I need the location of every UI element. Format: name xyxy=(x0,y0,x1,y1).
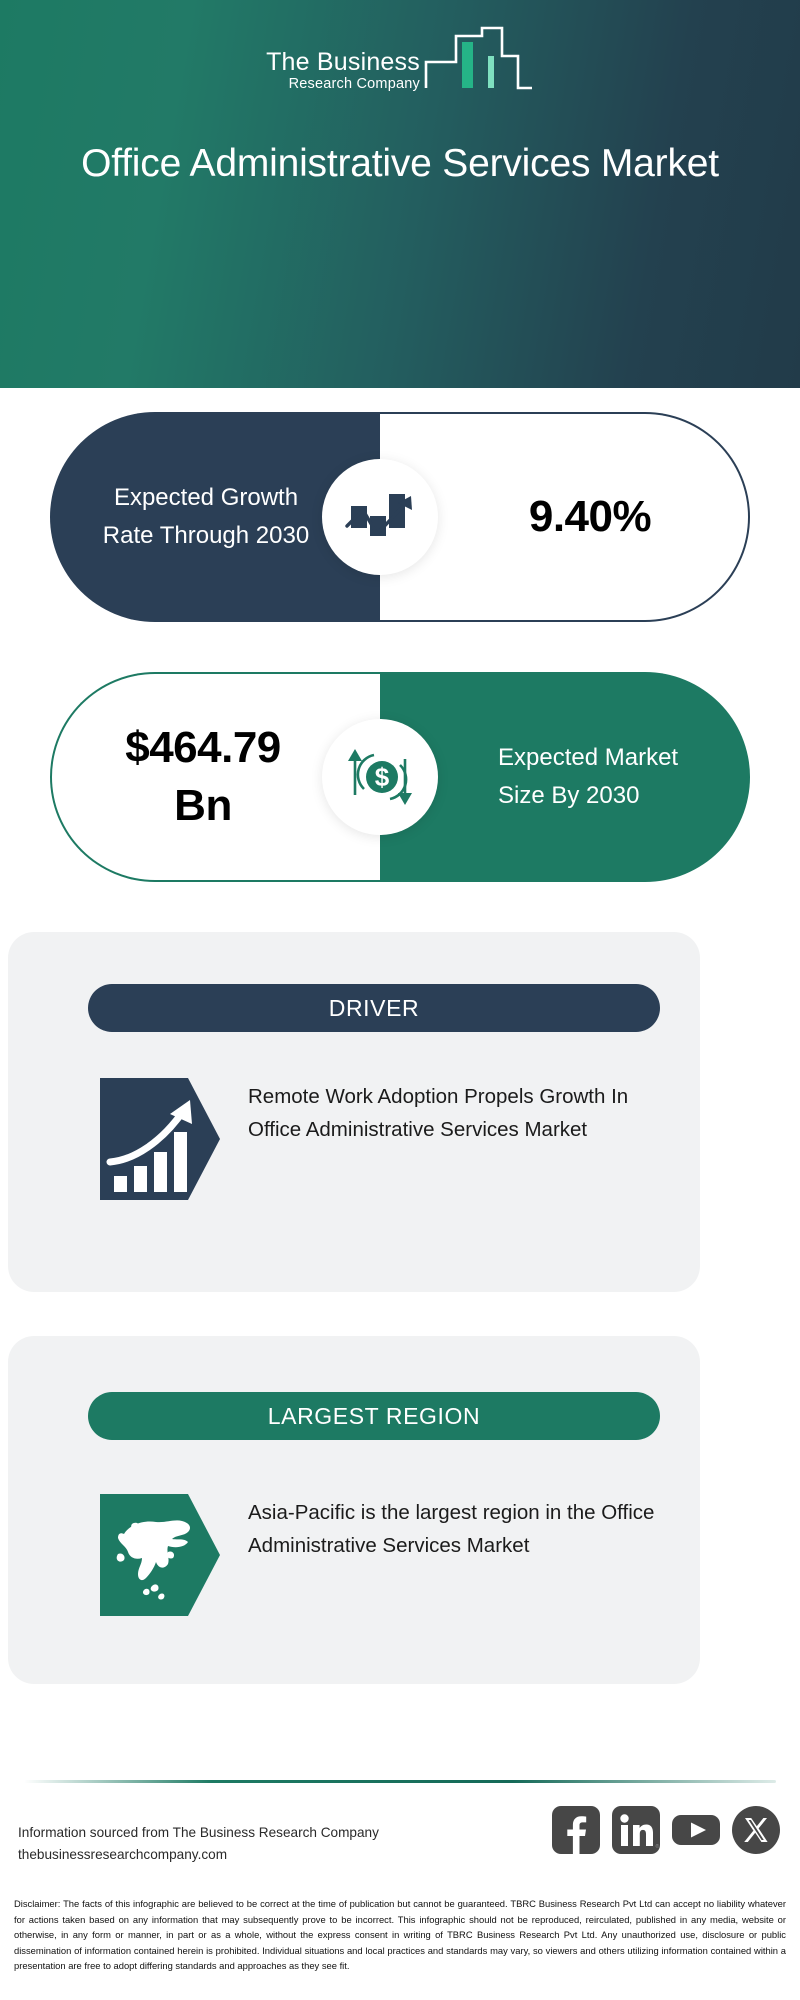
footer-source-url[interactable]: thebusinessresearchcompany.com xyxy=(18,1844,488,1866)
svg-text:$: $ xyxy=(375,762,390,792)
largest-region-pill: LARGEST REGION xyxy=(88,1392,660,1440)
market-size-label: Expected Market Size By 2030 xyxy=(440,739,690,815)
dollar-exchange-icon: $ xyxy=(322,719,438,835)
x-twitter-icon[interactable] xyxy=(732,1806,780,1854)
facebook-icon[interactable] xyxy=(552,1806,600,1854)
asia-map-pentagon-icon xyxy=(100,1494,220,1616)
youtube-icon[interactable] xyxy=(672,1806,720,1854)
largest-region-panel: LARGEST REGION Asia-Pacific xyxy=(8,1336,700,1684)
footer-divider xyxy=(24,1780,776,1783)
header-banner: The Business Research Company Office Adm… xyxy=(0,0,800,388)
growth-chart-arrow-icon xyxy=(322,459,438,575)
driver-text: Remote Work Adoption Propels Growth In O… xyxy=(248,1078,678,1200)
bar-chart-logo-icon xyxy=(422,22,534,99)
logo-secondary-text: Research Company xyxy=(289,76,420,93)
driver-body: Remote Work Adoption Propels Growth In O… xyxy=(100,1078,678,1200)
stat-card-market-size: $464.79 Bn Expected Market Size By 2030 … xyxy=(50,672,750,882)
svg-text:®: ® xyxy=(656,1843,660,1850)
linkedin-icon[interactable]: ® xyxy=(612,1806,660,1854)
driver-pill: DRIVER xyxy=(88,984,660,1032)
disclaimer-text: Disclaimer: The facts of this infographi… xyxy=(14,1896,786,1974)
largest-region-body: Asia-Pacific is the largest region in th… xyxy=(100,1494,678,1616)
logo-primary-text: The Business xyxy=(266,49,420,76)
stat-card-growth-rate: Expected Growth Rate Through 2030 9.40% xyxy=(50,412,750,622)
market-size-value: $464.79 Bn xyxy=(116,719,316,835)
footer-source-line1: Information sourced from The Business Re… xyxy=(18,1822,488,1844)
rising-bars-arrow-pentagon-icon xyxy=(100,1078,220,1200)
social-links: ® xyxy=(552,1806,780,1854)
driver-pill-label: DRIVER xyxy=(329,995,420,1022)
largest-region-pill-label: LARGEST REGION xyxy=(268,1403,480,1430)
footer-source: Information sourced from The Business Re… xyxy=(18,1822,488,1866)
growth-rate-label: Expected Growth Rate Through 2030 xyxy=(90,479,340,555)
brand-logo: The Business Research Company xyxy=(0,20,800,105)
largest-region-text: Asia-Pacific is the largest region in th… xyxy=(248,1494,678,1616)
driver-panel: DRIVER Remote Work Adoption Propels Grow… xyxy=(8,932,700,1292)
infographic-page: The Business Research Company Office Adm… xyxy=(0,0,800,2000)
growth-rate-value: 9.40% xyxy=(477,492,651,542)
page-title: Office Administrative Services Market xyxy=(40,140,760,188)
